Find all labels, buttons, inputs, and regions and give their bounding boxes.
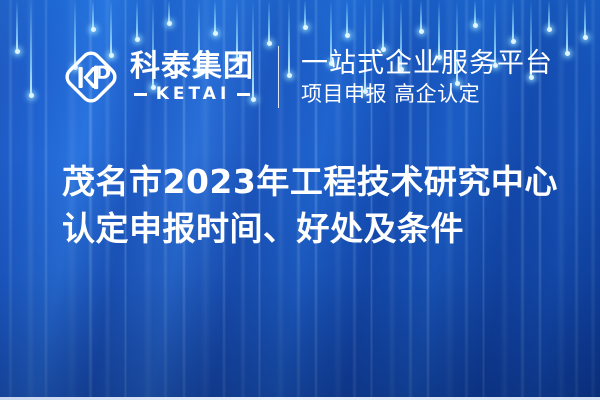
light-particle	[512, 0, 514, 42]
banner-header: 科泰集团 KETAI 一站式企业服务平台 项目申报 高企认定	[62, 44, 553, 110]
light-particle	[382, 0, 384, 50]
page-title: 茂名市2023年工程技术研究中心认定申报时间、好处及条件	[62, 158, 562, 252]
light-particle	[584, 0, 586, 38]
light-particle	[214, 0, 216, 34]
brand-dash-right-icon	[237, 93, 250, 96]
logo-wordmark: 科泰集团 KETAI	[130, 51, 254, 103]
tagline-main: 一站式企业服务平台	[301, 48, 553, 79]
brand-name-en-row: KETAI	[130, 86, 254, 103]
brand-name-en: KETAI	[147, 86, 238, 103]
promo-banner: 科泰集团 KETAI 一站式企业服务平台 项目申报 高企认定 茂名市2023年工…	[0, 0, 600, 400]
light-particle	[168, 0, 170, 24]
light-streak	[590, 0, 596, 400]
light-particle	[268, 0, 270, 44]
light-particle	[136, 0, 138, 40]
light-streak	[574, 0, 579, 400]
light-particle	[92, 0, 94, 30]
light-streak	[26, 0, 35, 400]
tagline-sub: 项目申报 高企认定	[301, 82, 553, 107]
title-block: 茂名市2023年工程技术研究中心认定申报时间、好处及条件	[62, 158, 562, 252]
light-particle	[16, 0, 18, 52]
tagline: 一站式企业服务平台 项目申报 高企认定	[301, 48, 553, 107]
light-particle	[474, 0, 476, 26]
header-divider	[278, 46, 279, 108]
light-streak	[44, 0, 48, 400]
ketai-diamond-kp-monogram-icon	[62, 48, 120, 106]
light-particle	[304, 0, 306, 28]
light-particle	[30, 0, 32, 96]
light-particle	[346, 0, 348, 36]
light-streak	[8, 0, 13, 400]
light-particle	[566, 0, 568, 54]
light-particle	[548, 0, 550, 30]
brand-name-cn: 科泰集团	[130, 51, 254, 83]
company-logo: 科泰集团 KETAI	[62, 48, 254, 106]
light-particle	[420, 0, 422, 32]
brand-dash-left-icon	[134, 93, 147, 96]
